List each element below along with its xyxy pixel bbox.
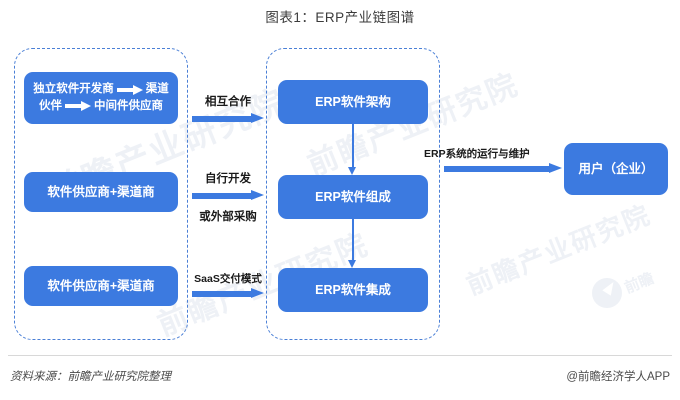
node-integ-label: ERP软件集成 xyxy=(315,281,391,299)
app-credit: @前瞻经济学人APP xyxy=(566,368,670,384)
watermark-logo-label: 前瞻 xyxy=(621,267,657,298)
node-isv-label-3: 中间件供应商 xyxy=(94,100,163,112)
node-user-enterprise[interactable]: 用户（企业） xyxy=(564,143,668,195)
watermark-text: 前瞻产业研究院 xyxy=(460,195,656,303)
connector-arrow-self-development-icon xyxy=(192,190,264,201)
watermark-logo-icon xyxy=(592,278,622,308)
connector-arrow-operation-maintenance-icon xyxy=(444,163,562,174)
node-user-label: 用户（企业） xyxy=(578,160,653,178)
node-arch-label: ERP软件架构 xyxy=(315,93,391,111)
node-isv-channel-middleware[interactable]: 独立软件开发商渠道伙伴中间件供应商 xyxy=(24,72,178,124)
node-erp-composition[interactable]: ERP软件组成 xyxy=(278,175,428,219)
connector-label-operation-maintenance: ERP系统的运行与维护 xyxy=(424,146,584,161)
connector-arrow-saas-icon xyxy=(192,288,264,299)
source-note: 资料来源：前瞻产业研究院整理 xyxy=(10,368,171,384)
node-vendor-1-label: 软件供应商+渠道商 xyxy=(47,183,154,201)
node-software-vendor-channel-1[interactable]: 软件供应商+渠道商 xyxy=(24,172,178,212)
connector-label-external-procurement: 或外部采购 xyxy=(192,208,264,224)
page-title: 图表1：ERP产业链图谱 xyxy=(0,6,680,26)
node-erp-integration[interactable]: ERP软件集成 xyxy=(278,268,428,312)
connector-arrow-cooperation-icon xyxy=(192,113,264,124)
node-comp-label: ERP软件组成 xyxy=(315,188,391,206)
connector-label-cooperation: 相互合作 xyxy=(192,93,264,109)
node-isv-label-1: 独立软件开发商 xyxy=(33,83,114,95)
node-software-vendor-channel-2[interactable]: 软件供应商+渠道商 xyxy=(24,266,178,306)
diagram-canvas: 前瞻产业研究院 前瞻产业研究院 前瞻产业研究院 前瞻产业研究院 前瞻 图表1：E… xyxy=(0,0,680,400)
connector-arrow-composition-to-integration-icon xyxy=(348,219,357,268)
right-arrow-icon xyxy=(65,101,91,110)
node-vendor-2-label: 软件供应商+渠道商 xyxy=(47,277,154,295)
connector-arrow-architecture-to-composition-icon xyxy=(348,124,357,175)
right-arrow-icon xyxy=(117,85,143,94)
connector-label-saas-delivery: SaaS交付模式 xyxy=(184,271,272,286)
connector-label-self-development: 自行开发 xyxy=(192,170,264,186)
node-erp-architecture[interactable]: ERP软件架构 xyxy=(278,80,428,124)
footer-divider xyxy=(8,355,672,356)
